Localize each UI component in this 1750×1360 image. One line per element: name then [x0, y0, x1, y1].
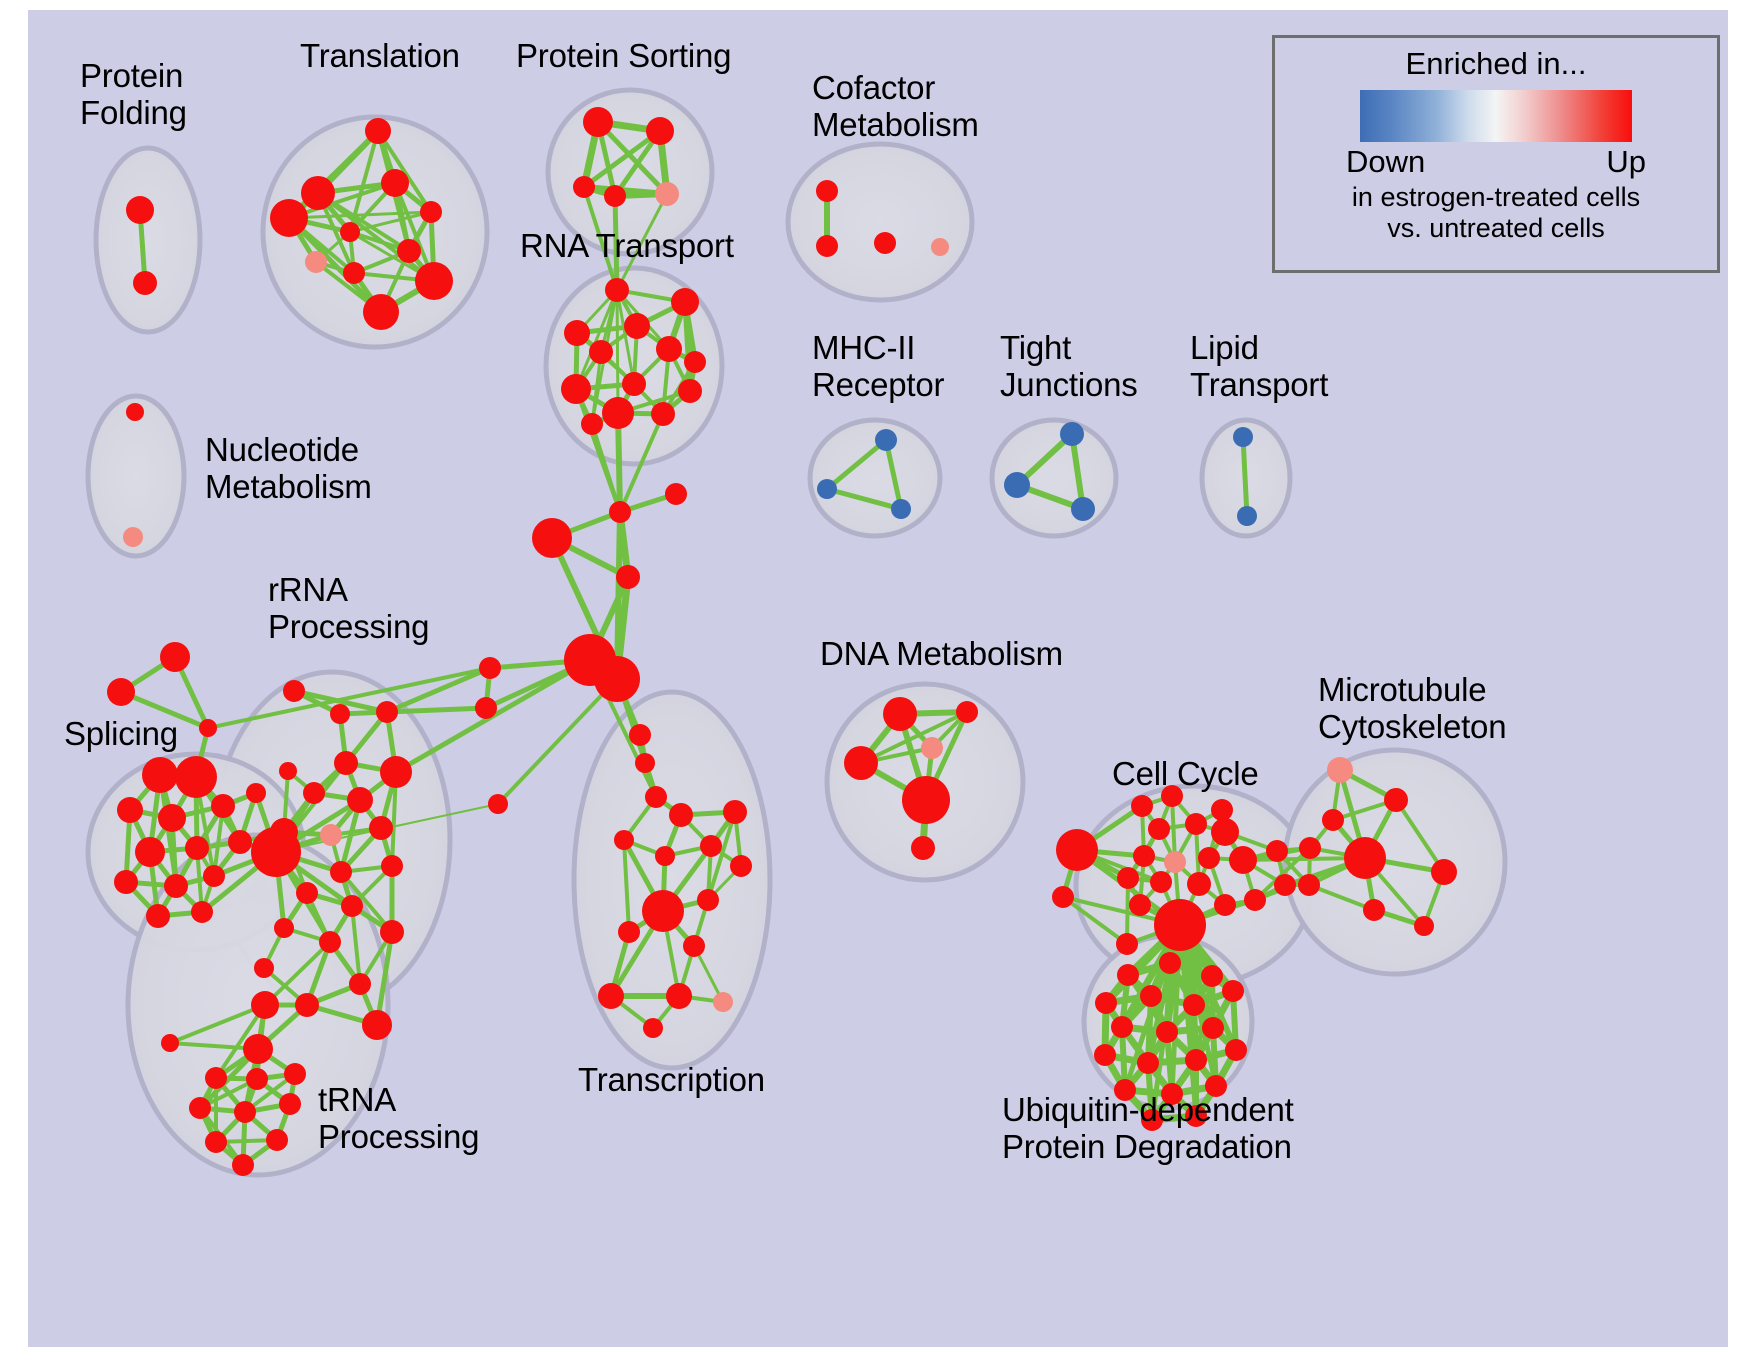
network-node[interactable]: [713, 992, 733, 1012]
cluster-label-tight-junctions: TightJunctions: [1000, 330, 1138, 404]
enrichment-map-figure: ProteinFoldingTranslationProtein Sorting…: [0, 0, 1750, 1360]
network-node[interactable]: [1414, 916, 1434, 936]
network-node[interactable]: [340, 222, 360, 242]
network-node[interactable]: [1183, 994, 1205, 1016]
cluster-label-line: RNA Transport: [520, 228, 734, 265]
network-node[interactable]: [303, 782, 325, 804]
cluster-label-line: Metabolism: [812, 107, 979, 144]
network-node[interactable]: [1060, 422, 1084, 446]
network-node[interactable]: [251, 991, 279, 1019]
network-node[interactable]: [1156, 1021, 1178, 1043]
network-node[interactable]: [875, 429, 897, 451]
network-node[interactable]: [635, 753, 655, 773]
network-node[interactable]: [1154, 899, 1206, 951]
network-node[interactable]: [279, 762, 297, 780]
cluster-label-line: Cytoskeleton: [1318, 709, 1506, 746]
cluster-label-line: Transport: [1190, 367, 1328, 404]
network-node[interactable]: [283, 680, 305, 702]
cluster-label-line: Translation: [300, 38, 460, 75]
network-node[interactable]: [296, 882, 318, 904]
network-node[interactable]: [365, 118, 391, 144]
network-node[interactable]: [1056, 829, 1098, 871]
cluster-label-line: Protein Degradation: [1002, 1129, 1294, 1166]
network-node[interactable]: [380, 756, 412, 788]
network-node[interactable]: [320, 824, 342, 846]
network-node[interactable]: [883, 697, 917, 731]
network-node[interactable]: [589, 340, 613, 364]
network-node[interactable]: [199, 719, 217, 737]
cluster-label-line: Microtubule: [1318, 672, 1506, 709]
network-node[interactable]: [347, 787, 373, 813]
network-node[interactable]: [158, 804, 186, 832]
network-node[interactable]: [594, 656, 640, 702]
network-node[interactable]: [1266, 840, 1288, 862]
cluster-label-microtubule: MicrotubuleCytoskeleton: [1318, 672, 1506, 746]
network-node[interactable]: [1214, 894, 1236, 916]
network-node[interactable]: [956, 701, 978, 723]
network-node[interactable]: [1202, 1017, 1224, 1039]
network-node[interactable]: [126, 403, 144, 421]
cluster-ellipse-transcription: [574, 692, 770, 1068]
network-node[interactable]: [1133, 845, 1155, 867]
network-node[interactable]: [561, 374, 591, 404]
cluster-label-cell-cycle: Cell Cycle: [1112, 756, 1259, 793]
network-node[interactable]: [1299, 837, 1321, 859]
cluster-label-line: Tight: [1000, 330, 1138, 367]
network-node[interactable]: [643, 1018, 663, 1038]
network-node[interactable]: [191, 901, 213, 923]
network-node[interactable]: [133, 271, 157, 295]
network-node[interactable]: [1111, 1016, 1133, 1038]
network-edge: [387, 668, 490, 712]
network-node[interactable]: [730, 855, 752, 877]
network-node[interactable]: [146, 904, 170, 928]
network-node[interactable]: [1140, 985, 1162, 1007]
network-node[interactable]: [1150, 871, 1172, 893]
network-node[interactable]: [816, 180, 838, 202]
network-node[interactable]: [678, 379, 702, 403]
legend-endpoint-labels: Down Up: [1346, 144, 1646, 180]
cluster-label-line: Metabolism: [205, 469, 372, 506]
network-node[interactable]: [1322, 809, 1344, 831]
network-node[interactable]: [284, 1063, 306, 1085]
legend-up-label: Up: [1606, 144, 1646, 180]
network-node[interactable]: [161, 1034, 179, 1052]
cluster-label-line: Protein: [80, 58, 187, 95]
cluster-label-line: tRNA: [318, 1082, 479, 1119]
network-node[interactable]: [107, 678, 135, 706]
cluster-ellipse-mhc-ii: [810, 420, 940, 536]
network-node[interactable]: [266, 1129, 288, 1151]
cluster-label-line: Receptor: [812, 367, 944, 404]
network-node[interactable]: [274, 918, 294, 938]
network-node[interactable]: [1131, 795, 1153, 817]
network-node[interactable]: [723, 800, 747, 824]
network-node[interactable]: [123, 527, 143, 547]
network-node[interactable]: [655, 182, 679, 206]
cluster-label-line: Folding: [80, 95, 187, 132]
network-node[interactable]: [363, 294, 399, 330]
network-node[interactable]: [415, 262, 453, 300]
cluster-label-line: Nucleotide: [205, 432, 372, 469]
network-node[interactable]: [669, 803, 693, 827]
network-node[interactable]: [624, 313, 650, 339]
network-node[interactable]: [295, 993, 319, 1017]
legend-box: Enriched in... Down Up in estrogen-treat…: [1272, 35, 1720, 273]
network-node[interactable]: [1187, 872, 1211, 896]
cluster-label-cofactor: CofactorMetabolism: [812, 70, 979, 144]
network-node[interactable]: [1211, 818, 1239, 846]
network-node[interactable]: [642, 890, 684, 932]
cluster-label-lipid-transport: LipidTransport: [1190, 330, 1328, 404]
network-node[interactable]: [381, 855, 403, 877]
network-node[interactable]: [246, 1068, 268, 1090]
network-node[interactable]: [254, 958, 274, 978]
network-node[interactable]: [614, 830, 634, 850]
network-node[interactable]: [1129, 894, 1151, 916]
network-node[interactable]: [114, 870, 138, 894]
network-node[interactable]: [341, 895, 363, 917]
cluster-label-line: MHC-II: [812, 330, 944, 367]
network-edge: [617, 290, 618, 413]
cluster-label-line: Ubiquitin-dependent: [1002, 1092, 1294, 1129]
network-node[interactable]: [397, 239, 421, 263]
network-node[interactable]: [1198, 847, 1220, 869]
network-node[interactable]: [301, 176, 335, 210]
cluster-label-line: Protein Sorting: [516, 38, 731, 75]
cluster-label-trna-processing: tRNAProcessing: [318, 1082, 479, 1156]
legend-title: Enriched in...: [1406, 46, 1587, 82]
network-node[interactable]: [604, 185, 626, 207]
cluster-label-translation: Translation: [300, 38, 460, 75]
network-node[interactable]: [684, 351, 706, 373]
cluster-label-mhc-ii: MHC-IIReceptor: [812, 330, 944, 404]
network-node[interactable]: [1237, 506, 1257, 526]
network-node[interactable]: [117, 797, 143, 823]
network-node[interactable]: [1137, 1052, 1159, 1074]
network-node[interactable]: [475, 697, 497, 719]
network-node[interactable]: [175, 756, 217, 798]
network-node[interactable]: [583, 107, 613, 137]
network-node[interactable]: [1094, 1044, 1116, 1066]
cluster-label-line: Transcription: [578, 1062, 765, 1099]
network-node[interactable]: [564, 320, 590, 346]
network-node[interactable]: [234, 1101, 256, 1123]
network-node[interactable]: [816, 235, 838, 257]
network-node[interactable]: [1274, 874, 1296, 896]
network-node[interactable]: [380, 920, 404, 944]
network-node[interactable]: [142, 757, 178, 793]
network-node[interactable]: [1431, 859, 1457, 885]
legend-subtitle-line1: in estrogen-treated cells: [1352, 182, 1640, 213]
network-node[interactable]: [1222, 980, 1244, 1002]
network-node[interactable]: [246, 783, 266, 803]
network-node[interactable]: [270, 199, 308, 237]
network-node[interactable]: [921, 737, 943, 759]
network-node[interactable]: [1211, 799, 1233, 821]
network-node[interactable]: [1117, 867, 1139, 889]
network-node[interactable]: [1116, 933, 1138, 955]
network-node[interactable]: [1185, 1049, 1207, 1071]
cluster-label-line: Cofactor: [812, 70, 979, 107]
network-node[interactable]: [683, 935, 705, 957]
network-node[interactable]: [697, 889, 719, 911]
network-node[interactable]: [381, 169, 409, 197]
network-node[interactable]: [362, 1010, 392, 1040]
network-node[interactable]: [1071, 497, 1095, 521]
network-node[interactable]: [1244, 889, 1266, 911]
cluster-ellipse-cofactor: [788, 144, 972, 300]
network-node[interactable]: [665, 483, 687, 505]
network-node[interactable]: [532, 518, 572, 558]
network-node[interactable]: [573, 176, 595, 198]
network-node[interactable]: [646, 117, 674, 145]
network-node[interactable]: [1148, 818, 1170, 840]
cluster-label-transcription: Transcription: [578, 1062, 765, 1099]
network-node[interactable]: [349, 973, 371, 995]
network-node[interactable]: [671, 288, 699, 316]
network-node[interactable]: [135, 837, 165, 867]
network-node[interactable]: [203, 865, 225, 887]
cluster-label-protein-sorting: Protein Sorting: [516, 38, 731, 75]
network-node[interactable]: [1164, 851, 1186, 873]
network-node[interactable]: [1363, 899, 1385, 921]
cluster-label-splicing: Splicing: [64, 716, 178, 753]
network-node[interactable]: [1233, 427, 1253, 447]
network-node[interactable]: [844, 746, 878, 780]
network-node[interactable]: [629, 724, 651, 746]
network-node[interactable]: [666, 983, 692, 1009]
cluster-ellipse-protein-folding: [96, 148, 200, 332]
cluster-label-line: Splicing: [64, 716, 178, 753]
cluster-label-ubiquitin: Ubiquitin-dependentProtein Degradation: [1002, 1092, 1294, 1166]
legend-subtitle: in estrogen-treated cells vs. untreated …: [1352, 182, 1640, 244]
network-node[interactable]: [330, 704, 350, 724]
network-node[interactable]: [1298, 874, 1320, 896]
cluster-label-rna-transport: RNA Transport: [520, 228, 734, 265]
cluster-label-line: DNA Metabolism: [820, 636, 1063, 673]
network-node[interactable]: [817, 479, 837, 499]
network-node[interactable]: [874, 232, 896, 254]
network-node[interactable]: [1229, 846, 1257, 874]
network-node[interactable]: [618, 921, 640, 943]
legend-down-label: Down: [1346, 144, 1425, 180]
network-node[interactable]: [891, 499, 911, 519]
legend-color-gradient-bar: [1360, 90, 1632, 142]
network-node[interactable]: [655, 846, 675, 866]
network-node[interactable]: [605, 278, 629, 302]
network-node[interactable]: [622, 372, 646, 396]
network-node[interactable]: [581, 413, 603, 435]
network-node[interactable]: [700, 835, 722, 857]
network-node[interactable]: [1004, 472, 1030, 498]
cluster-label-line: Lipid: [1190, 330, 1328, 367]
cluster-label-line: Junctions: [1000, 367, 1138, 404]
cluster-label-line: Processing: [318, 1119, 479, 1156]
cluster-label-line: Processing: [268, 609, 429, 646]
network-node[interactable]: [1327, 757, 1353, 783]
network-node[interactable]: [911, 836, 935, 860]
network-node[interactable]: [205, 1067, 227, 1089]
network-node[interactable]: [602, 397, 634, 429]
cluster-label-dna-metabolism: DNA Metabolism: [820, 636, 1063, 673]
network-node[interactable]: [279, 1093, 301, 1115]
network-node[interactable]: [931, 238, 949, 256]
network-node[interactable]: [305, 251, 327, 273]
network-node[interactable]: [228, 830, 252, 854]
network-node[interactable]: [598, 983, 624, 1009]
network-node[interactable]: [330, 861, 352, 883]
cluster-label-rrna-processing: rRNAProcessing: [268, 572, 429, 646]
network-node[interactable]: [645, 786, 667, 808]
network-node[interactable]: [651, 402, 675, 426]
network-node[interactable]: [185, 836, 209, 860]
network-node[interactable]: [232, 1154, 254, 1176]
network-node[interactable]: [656, 336, 682, 362]
network-node[interactable]: [479, 657, 501, 679]
legend-subtitle-line2: vs. untreated cells: [1352, 213, 1640, 244]
network-node[interactable]: [126, 196, 154, 224]
network-node[interactable]: [1344, 837, 1386, 879]
network-node[interactable]: [616, 565, 640, 589]
network-node[interactable]: [369, 816, 393, 840]
network-node[interactable]: [1095, 992, 1117, 1014]
network-node[interactable]: [1225, 1039, 1247, 1061]
network-node[interactable]: [1384, 788, 1408, 812]
cluster-label-line: Cell Cycle: [1112, 756, 1259, 793]
network-node[interactable]: [319, 931, 341, 953]
network-node[interactable]: [164, 874, 188, 898]
network-node[interactable]: [243, 1034, 273, 1064]
network-node[interactable]: [160, 642, 190, 672]
network-node[interactable]: [488, 794, 508, 814]
cluster-label-line: rRNA: [268, 572, 429, 609]
network-node[interactable]: [211, 794, 235, 818]
network-node[interactable]: [251, 827, 301, 877]
network-node[interactable]: [1201, 965, 1223, 987]
network-node[interactable]: [189, 1097, 211, 1119]
network-node[interactable]: [1185, 813, 1207, 835]
network-node[interactable]: [1052, 886, 1074, 908]
network-node[interactable]: [902, 776, 950, 824]
cluster-label-protein-folding: ProteinFolding: [80, 58, 187, 132]
network-node[interactable]: [334, 751, 358, 775]
network-node[interactable]: [205, 1131, 227, 1153]
network-node[interactable]: [1117, 964, 1139, 986]
network-node[interactable]: [343, 262, 365, 284]
network-node[interactable]: [420, 201, 442, 223]
network-node[interactable]: [609, 501, 631, 523]
network-node[interactable]: [1159, 952, 1181, 974]
network-node[interactable]: [376, 701, 398, 723]
cluster-label-nucleotide: NucleotideMetabolism: [205, 432, 372, 506]
